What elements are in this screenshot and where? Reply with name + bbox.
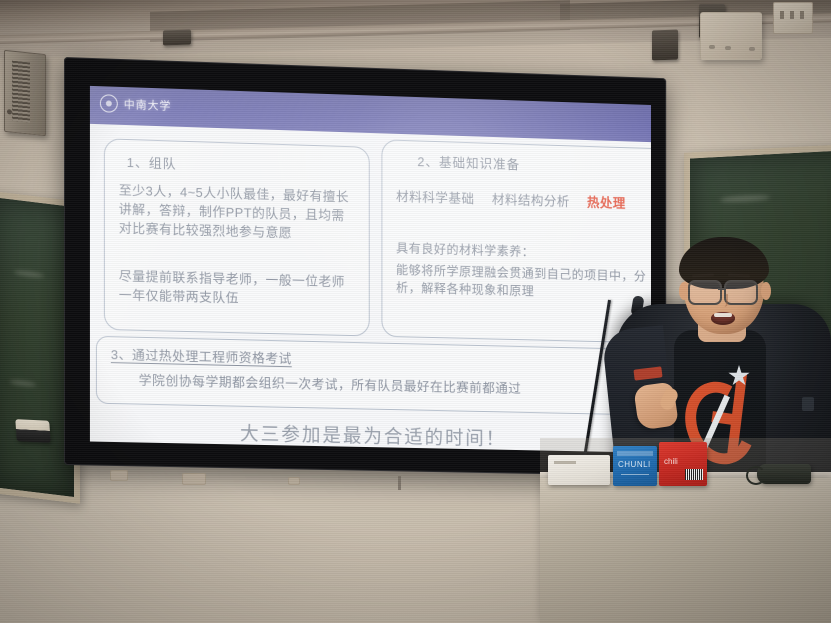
panel-indicator xyxy=(749,47,755,51)
panel-indicator xyxy=(725,46,731,50)
classroom-scene: 中南大学 1、组队 至少3人，4~5人小队最佳，最好有擅长讲解，答辩，制作PPT… xyxy=(0,0,831,623)
eyeglasses-icon xyxy=(724,280,758,305)
podium-item-blue-box[interactable]: CHUNLI xyxy=(613,446,657,486)
sleeve-logo-icon xyxy=(802,397,814,411)
speaker-grill xyxy=(12,61,30,123)
power-socket[interactable] xyxy=(773,2,813,34)
panel-2-subheading: 具有良好的材料学素养： xyxy=(396,239,651,264)
presenter-ear xyxy=(761,282,771,300)
barcode-icon xyxy=(685,469,703,480)
podium-item-white-box[interactable] xyxy=(548,455,610,485)
panel-2-body: 能够将所学原理融会贯通到自己的项目中，分析，解释各种现象和原理 xyxy=(396,261,651,304)
chalk-eraser[interactable] xyxy=(15,419,50,443)
university-seal-icon xyxy=(100,94,118,113)
wall-socket-low[interactable] xyxy=(182,473,206,485)
screen-surface: 中南大学 1、组队 至少3人，4~5人小队最佳，最好有擅长讲解，答辩，制作PPT… xyxy=(90,86,651,453)
slide-panel-3: 3、通过热处理工程师资格考试 学院创协每学期都会组织一次考试，所有队员最好在比赛… xyxy=(96,336,651,416)
panel-1-heading: 1、组队 xyxy=(127,152,177,172)
panel-indicator xyxy=(709,45,715,49)
eyeglasses-icon xyxy=(688,280,722,305)
face-mask-icon[interactable] xyxy=(757,464,811,484)
blue-box-label: CHUNLI xyxy=(618,460,651,469)
ceiling-sensor-icon xyxy=(163,30,191,46)
university-name: 中南大学 xyxy=(124,96,172,114)
panel-2-course-2: 材料结构分析 xyxy=(492,191,570,212)
wall-speaker-icon xyxy=(4,50,46,136)
panel-2-course-1: 材料科学基础 xyxy=(396,188,475,209)
red-box-label: chili xyxy=(664,457,678,466)
wall-control-panel[interactable] xyxy=(700,12,762,60)
panel-2-heading: 2、基础知识准备 xyxy=(417,151,520,173)
panel-3-body: 学院创协每学期都会组织一次考试，所有队员最好在比赛前都通过 xyxy=(139,372,522,399)
wall-socket-low[interactable] xyxy=(288,477,300,485)
cable-icon xyxy=(398,476,401,490)
panel-3-heading: 3、通过热处理工程师资格考试 xyxy=(111,346,292,369)
ceiling-sensor-icon xyxy=(652,30,678,61)
podium-item-red-box[interactable]: chili xyxy=(659,442,707,486)
presentation-slide: 中南大学 1、组队 至少3人，4~5人小队最佳，最好有擅长讲解，答辩，制作PPT… xyxy=(90,86,651,453)
slide-brand: 中南大学 xyxy=(100,94,171,114)
lectern xyxy=(540,478,831,623)
eyeglasses-bridge xyxy=(718,288,726,290)
presenter-mouth xyxy=(711,312,735,325)
panel-1-body: 至少3人，4~5人小队最佳，最好有擅长讲解，答辩，制作PPT的队员，且均需对比赛… xyxy=(119,182,357,245)
projection-screen: 中南大学 1、组队 至少3人，4~5人小队最佳，最好有擅长讲解，答辩，制作PPT… xyxy=(64,57,666,476)
speaker-knob[interactable] xyxy=(7,109,12,115)
slide-panel-1: 1、组队 至少3人，4~5人小队最佳，最好有擅长讲解，答辩，制作PPT的队员，且… xyxy=(104,138,370,336)
panel-2-highlight: 热处理 xyxy=(587,194,626,214)
presenter-nose xyxy=(718,294,728,307)
panel-1-note: 尽量提前联系指导老师，一般一位老师一年仅能带两支队伍 xyxy=(119,267,357,311)
slide-panel-2: 2、基础知识准备 材料科学基础 材料结构分析 热处理 具有良好的材料学素养： 能… xyxy=(381,139,651,344)
wall-socket-low[interactable] xyxy=(110,470,128,481)
